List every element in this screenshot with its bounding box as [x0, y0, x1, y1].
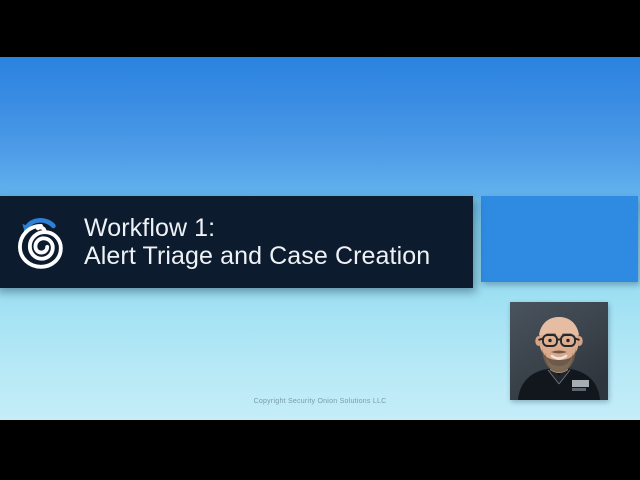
presentation-slide: Workflow 1: Alert Triage and Case Creati…: [0, 0, 640, 480]
title-text-block: Workflow 1: Alert Triage and Case Creati…: [84, 214, 430, 271]
accent-rectangle: [481, 196, 638, 282]
title-banner: Workflow 1: Alert Triage and Case Creati…: [0, 196, 473, 288]
presenter-portrait-image: [510, 302, 608, 400]
presenter-headshot: [510, 302, 608, 400]
copyright-notice: Copyright Security Onion Solutions LLC: [0, 398, 640, 405]
security-onion-logo-icon: [10, 211, 72, 273]
slide-title-line-2: Alert Triage and Case Creation: [84, 242, 430, 271]
slide-canvas: Workflow 1: Alert Triage and Case Creati…: [0, 57, 640, 420]
letterbox-bar-top: [0, 0, 640, 57]
letterbox-bar-bottom: [0, 420, 640, 480]
slide-title-line-1: Workflow 1:: [84, 214, 430, 243]
